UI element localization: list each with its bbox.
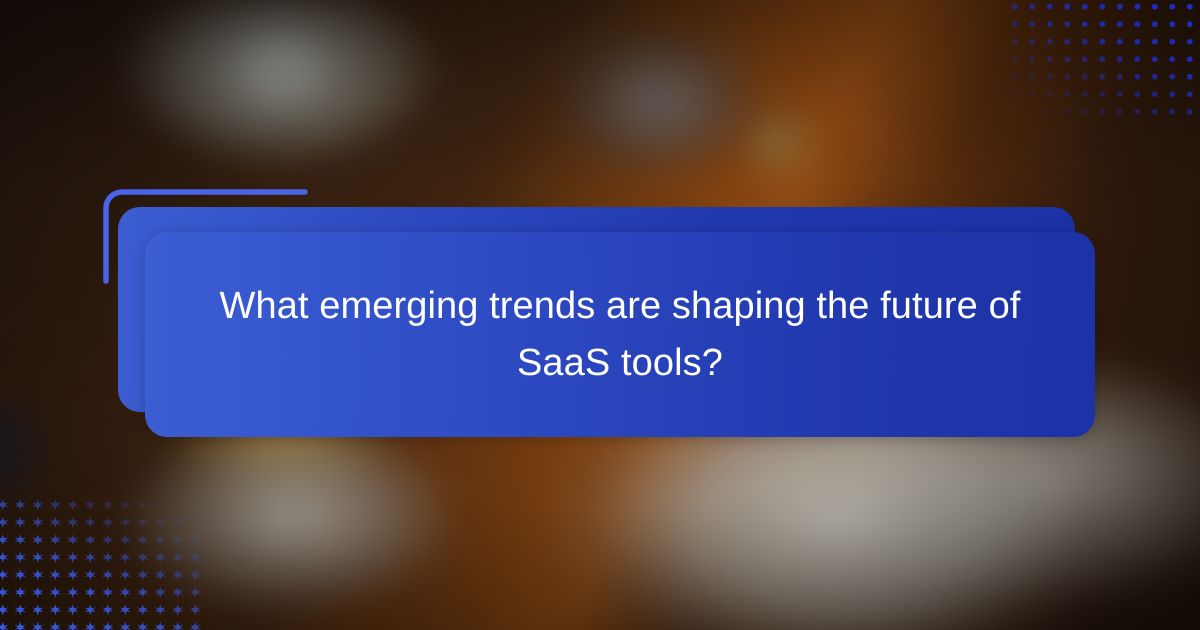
question-card[interactable]: What emerging trends are shaping the fut… [145,232,1095,437]
share-card-canvas: What emerging trends are shaping the fut… [0,0,1200,630]
star-grid-bottom-left [0,496,204,630]
question-text: What emerging trends are shaping the fut… [145,278,1095,392]
dot-grid-top-right [1004,0,1200,124]
